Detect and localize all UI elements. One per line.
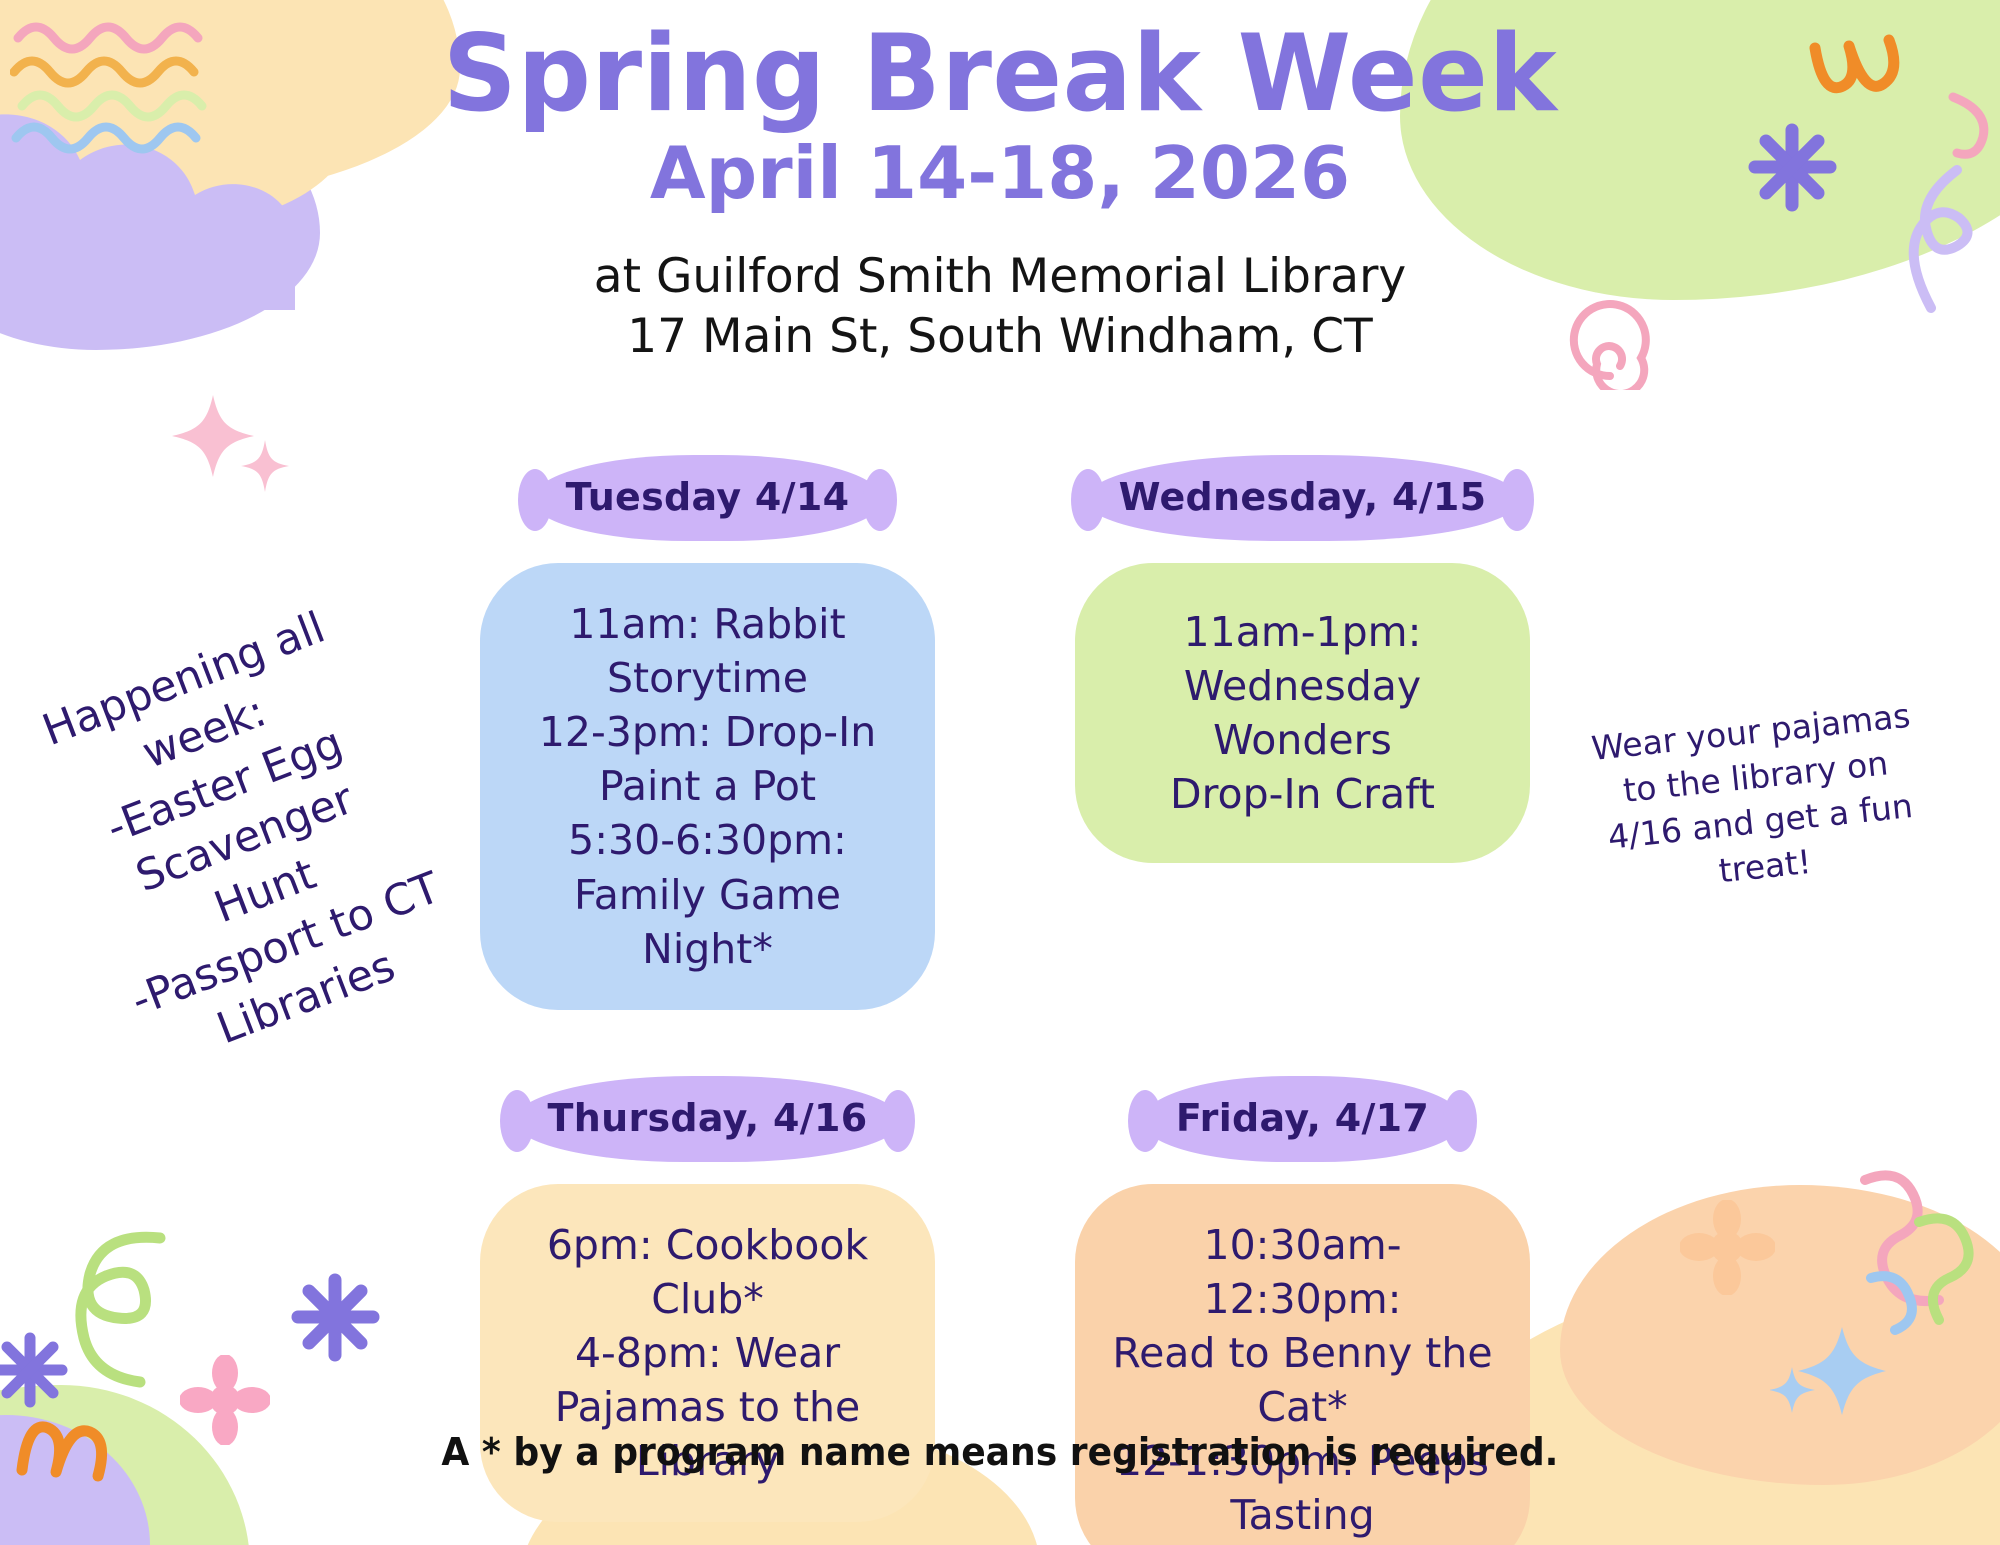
day-events-wednesday: 11am-1pm: Wednesday Wonders Drop-In Craf… [1105,605,1500,821]
day-events-friday: 10:30am-12:30pm: Read to Benny the Cat* … [1105,1218,1500,1543]
day-banner-tuesday: Tuesday 4/14 [532,455,884,541]
day-body-friday: 10:30am-12:30pm: Read to Benny the Cat* … [1075,1184,1530,1545]
poster-header: Spring Break Week April 14-18, 2026 at G… [0,20,2000,368]
venue-line-2: 17 Main St, South Windham, CT [0,307,2000,367]
day-banner-wednesday: Wednesday, 4/15 [1085,455,1521,541]
registration-footnote: A * by a program name means registration… [0,1430,2000,1474]
date-range: April 14-18, 2026 [0,134,2000,213]
day-events-tuesday: 11am: Rabbit Storytime 12-3pm: Drop-In P… [510,597,905,976]
squiggles-bottom-right [1845,1160,2000,1350]
note-all-week: Happening all week: -Easter Egg Scavenge… [20,594,470,1083]
day-body-tuesday: 11am: Rabbit Storytime 12-3pm: Drop-In P… [480,563,935,1010]
day-label-friday: Friday, 4/17 [1176,1096,1429,1140]
poster-canvas: Spring Break Week April 14-18, 2026 at G… [0,0,2000,1545]
day-label-thursday: Thursday, 4/16 [548,1096,868,1140]
note-pajamas-text: Wear your pajamas to the library on 4/16… [1580,693,1937,907]
schedule-grid: Tuesday 4/14 11am: Rabbit Storytime 12-3… [480,455,1530,1545]
schedule-row-top: Tuesday 4/14 11am: Rabbit Storytime 12-3… [480,455,1530,1010]
venue-line-1: at Guilford Smith Memorial Library [0,247,2000,307]
day-card-tuesday[interactable]: Tuesday 4/14 11am: Rabbit Storytime 12-3… [480,455,935,1010]
sparkle-pink-left [165,390,295,500]
schedule-row-bottom: Thursday, 4/16 6pm: Cookbook Club* 4-8pm… [480,1076,1530,1545]
day-label-tuesday: Tuesday 4/14 [566,475,850,519]
day-card-wednesday[interactable]: Wednesday, 4/15 11am-1pm: Wednesday Wond… [1075,455,1530,1010]
note-all-week-text: Happening all week: -Easter Egg Scavenge… [20,594,470,1083]
note-pajamas: Wear your pajamas to the library on 4/16… [1580,693,1937,907]
day-banner-friday: Friday, 4/17 [1142,1076,1463,1162]
day-label-wednesday: Wednesday, 4/15 [1119,475,1487,519]
loops-green-bottom-left [40,1220,240,1410]
registration-footnote-text: A * by a program name means registration… [442,1430,1559,1474]
day-body-wednesday: 11am-1pm: Wednesday Wonders Drop-In Craf… [1075,563,1530,863]
asterisk-purple-corner [0,1330,70,1410]
sparkle-blue-bottom-right [1770,1315,1890,1425]
asterisk-purple-bottom-left [288,1270,383,1365]
day-banner-thursday: Thursday, 4/16 [514,1076,902,1162]
page-title: Spring Break Week [30,20,1970,128]
day-card-friday[interactable]: Friday, 4/17 10:30am-12:30pm: Read to Be… [1075,1076,1530,1545]
day-card-thursday[interactable]: Thursday, 4/16 6pm: Cookbook Club* 4-8pm… [480,1076,935,1545]
flower-peach-bottom-right [1680,1200,1775,1295]
